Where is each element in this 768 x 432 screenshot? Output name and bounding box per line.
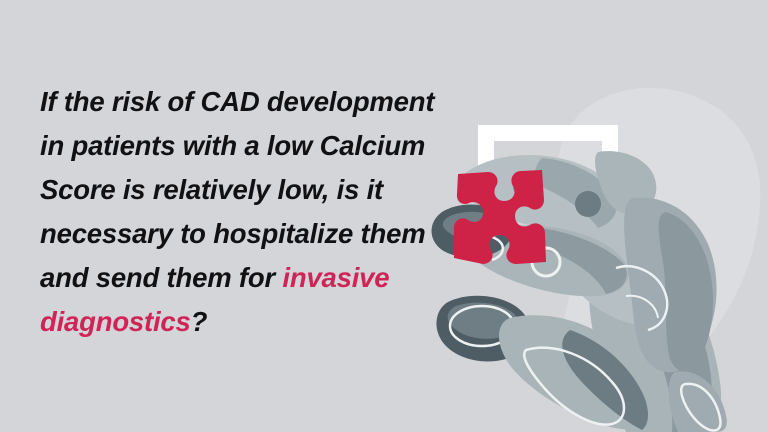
slide-canvas: If the risk of CAD development in patien… [0,0,768,432]
headline-trailing: ? [191,306,208,337]
headline-text: If the risk of CAD development in patien… [40,80,460,344]
robotic-hand-illustration [420,0,768,432]
hand-index-joint-2 [575,191,601,217]
